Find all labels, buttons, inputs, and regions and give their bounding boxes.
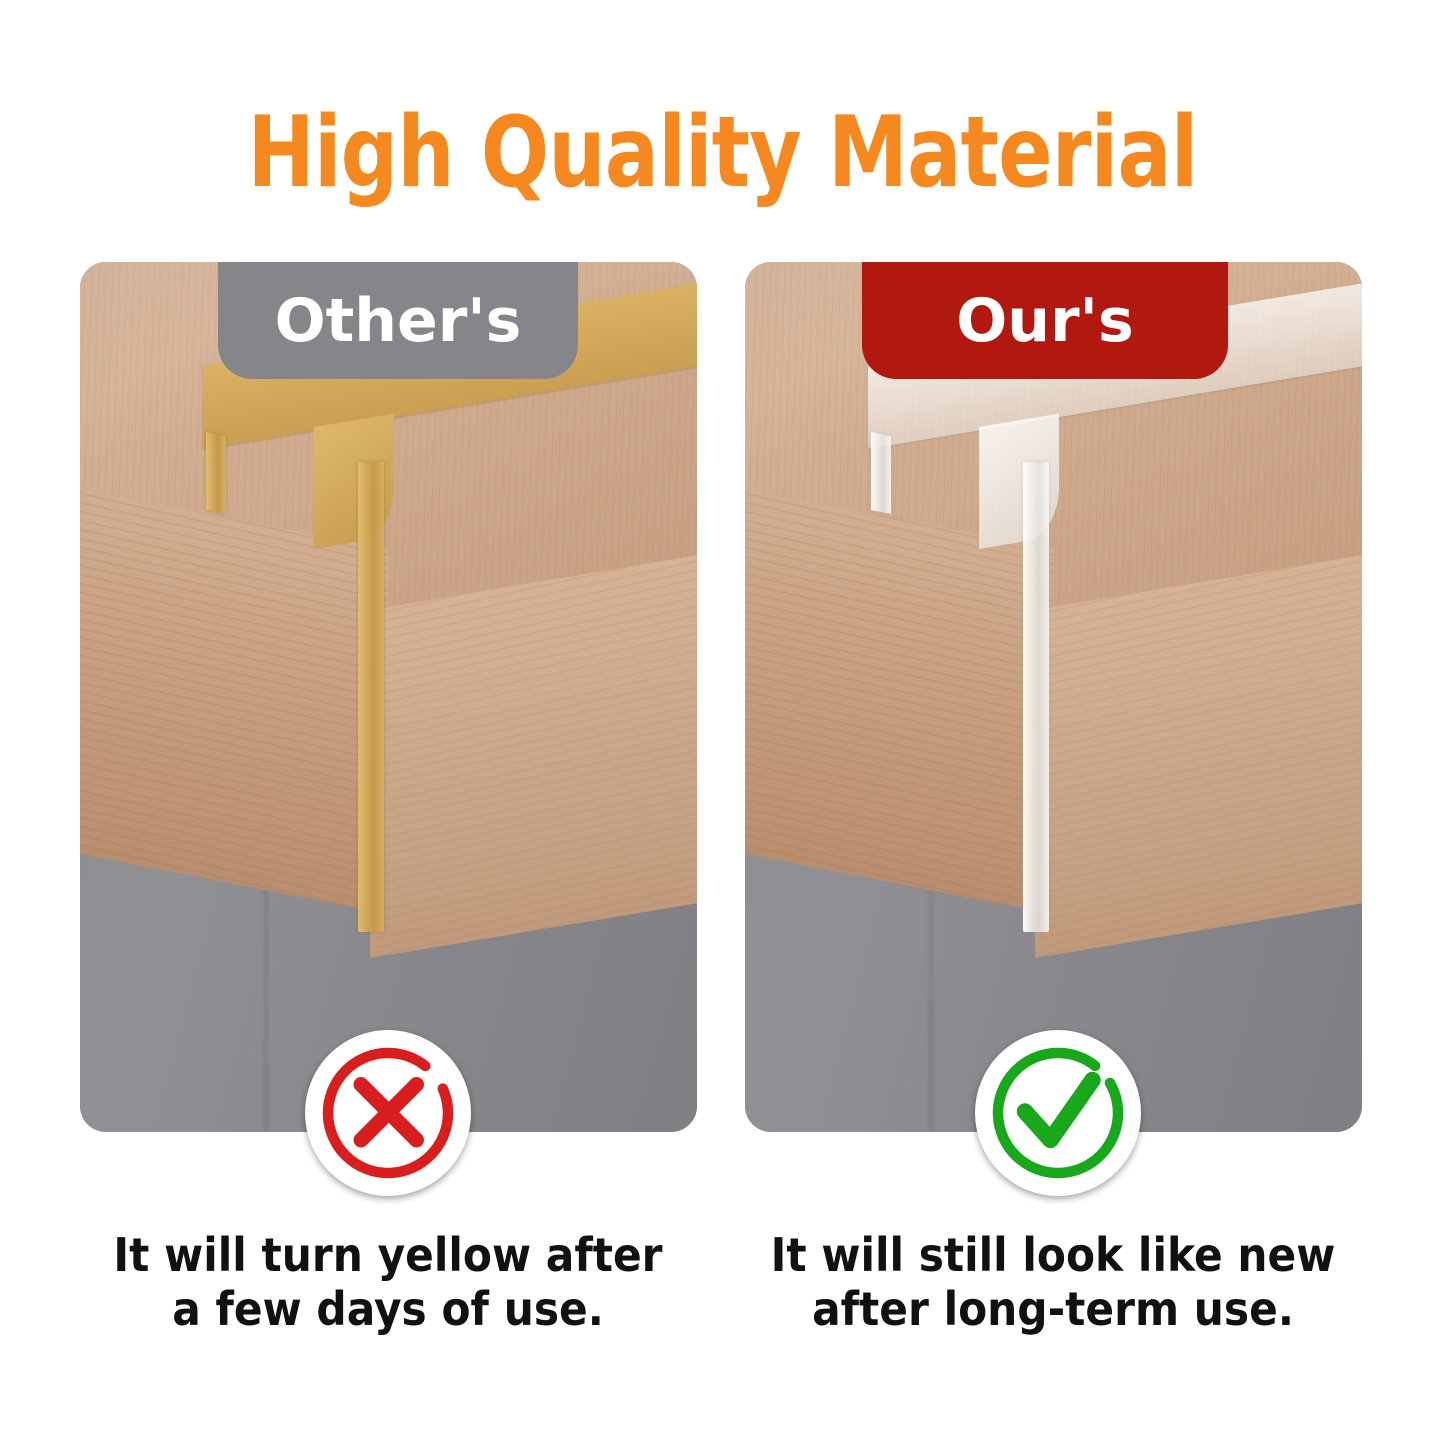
caption-other: It will turn yellow after a few days of … bbox=[94, 1228, 683, 1337]
page-title: High Quality Material bbox=[130, 104, 1315, 202]
badge-other: Other's bbox=[218, 262, 578, 379]
caption-ours-line2: after long-term use. bbox=[759, 1282, 1348, 1336]
edge-guard-front-lip bbox=[871, 432, 891, 514]
edge-guard-vertical-post bbox=[1023, 462, 1049, 932]
status-badge-positive bbox=[975, 1030, 1141, 1196]
badge-ours: Our's bbox=[862, 262, 1228, 379]
table-side-face bbox=[1035, 552, 1362, 958]
caption-other-line2: a few days of use. bbox=[94, 1282, 683, 1336]
caption-other-line1: It will turn yellow after bbox=[94, 1228, 683, 1282]
comparison-panel-other bbox=[80, 262, 697, 1132]
caption-ours-line1: It will still look like new bbox=[759, 1228, 1348, 1282]
edge-guard-vertical-post bbox=[358, 462, 384, 932]
red-cross-icon bbox=[313, 1038, 463, 1188]
table-corner-image-other bbox=[80, 262, 697, 1132]
table-side-face bbox=[370, 552, 697, 958]
caption-ours: It will still look like new after long-t… bbox=[759, 1228, 1348, 1337]
status-badge-negative bbox=[305, 1030, 471, 1196]
table-front-face bbox=[745, 487, 1054, 915]
edge-guard-front-lip bbox=[206, 432, 226, 514]
table-corner-image-ours bbox=[745, 262, 1362, 1132]
table-front-face bbox=[80, 487, 389, 915]
comparison-panel-ours bbox=[745, 262, 1362, 1132]
green-check-icon bbox=[983, 1038, 1133, 1188]
